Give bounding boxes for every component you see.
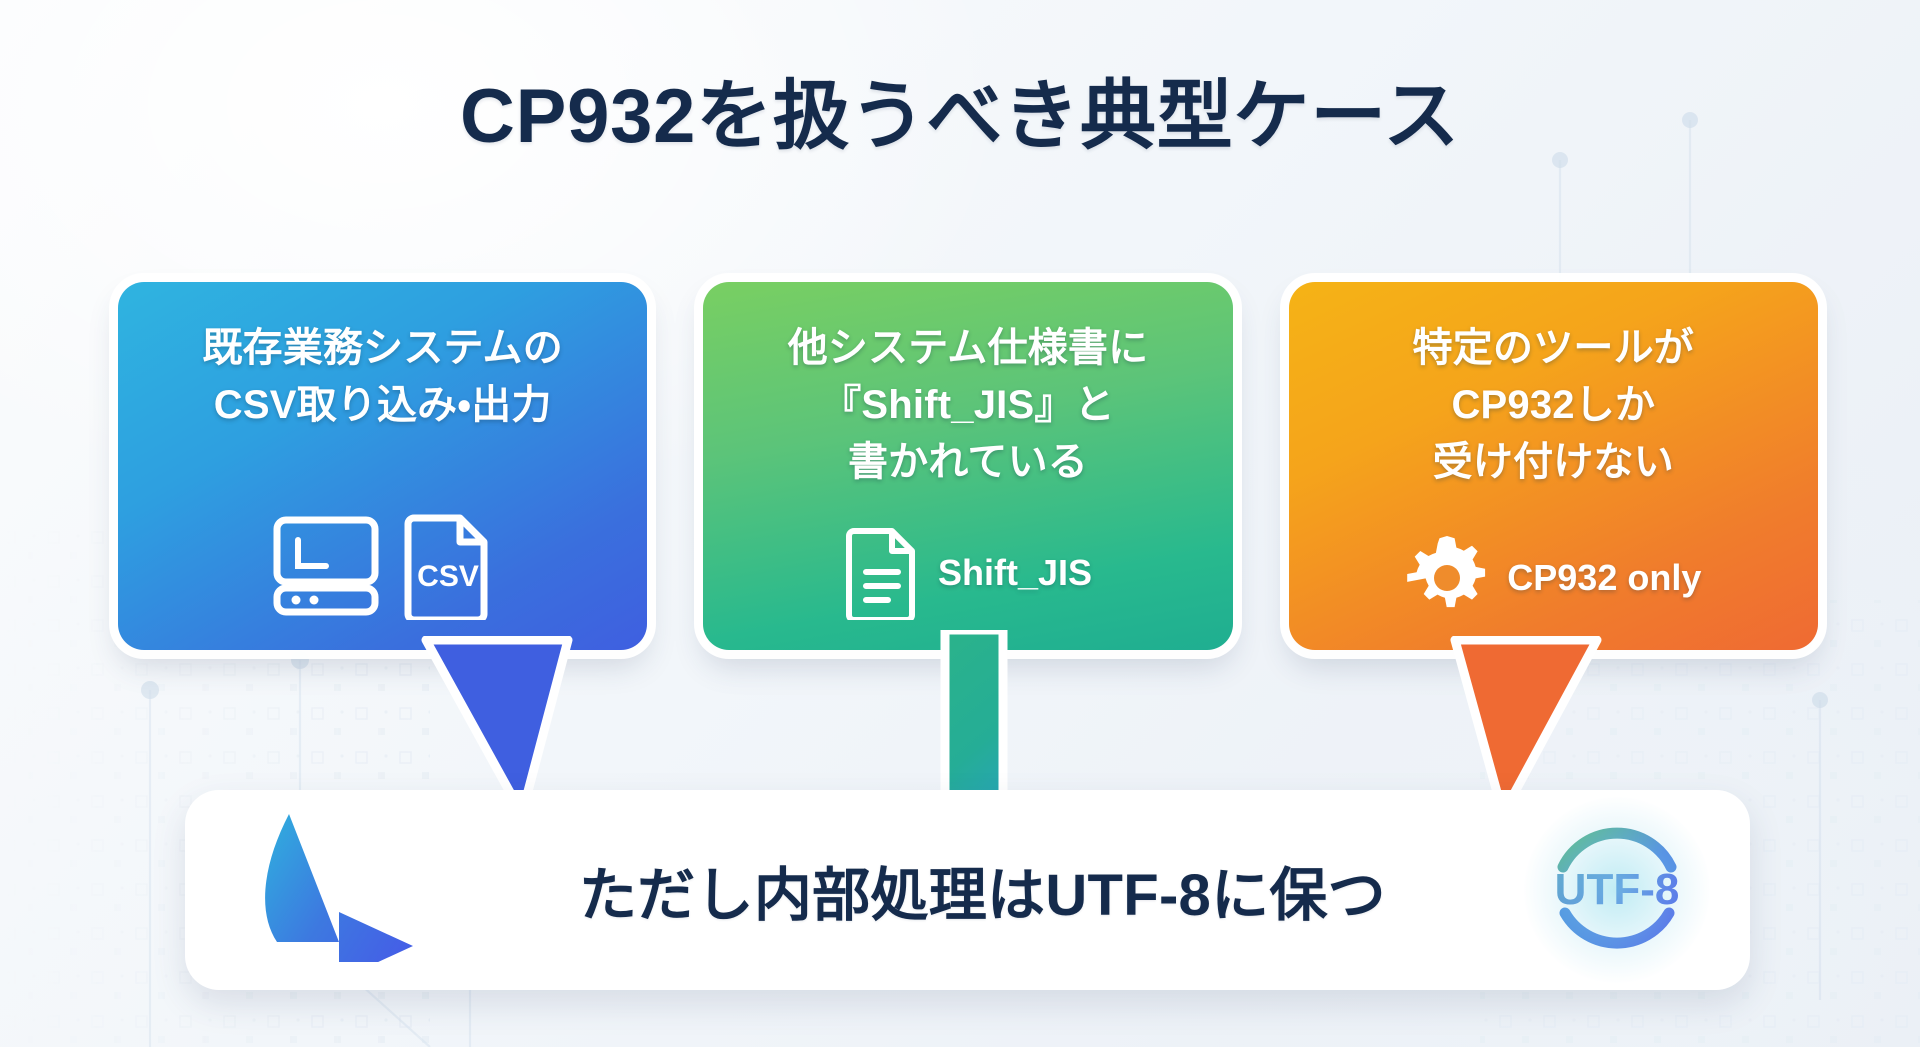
case-card-spec-says-shift-jis[interactable]: 他システム仕様書に 『Shift_JIS』と 書かれている Shift_JIS bbox=[703, 282, 1232, 650]
desktop-computer-icon bbox=[270, 514, 382, 618]
gear-icon bbox=[1405, 536, 1489, 620]
page-title: CP932を扱うべき典型ケース bbox=[0, 74, 1920, 159]
card-slot-spec-says-shift-jis: 他システム仕様書に 『Shift_JIS』と 書かれている Shift_JIS bbox=[703, 282, 1232, 650]
icon-label: CP932 only bbox=[1507, 557, 1701, 599]
card-icon-row: CSV bbox=[270, 486, 496, 620]
infographic-stage: CP932を扱うべき典型ケース 既存業務システムの CSV取り込み・出力 bbox=[0, 0, 1920, 1047]
case-card-existing-system-csv[interactable]: 既存業務システムの CSV取り込み・出力 bbox=[118, 282, 647, 650]
card-line: 他システム仕様書に bbox=[788, 320, 1149, 377]
utf8-badge: UTF-8 bbox=[1538, 809, 1696, 972]
card-line: CSV取り込み・出力 bbox=[202, 377, 563, 434]
card-line: 既存業務システムの bbox=[202, 320, 563, 377]
case-cards-row: 既存業務システムの CSV取り込み・出力 bbox=[118, 282, 1818, 650]
document-icon bbox=[844, 526, 920, 620]
card-text-block: 他システム仕様書に 『Shift_JIS』と 書かれている bbox=[788, 320, 1149, 490]
utf8-badge-label: UTF-8 bbox=[1555, 865, 1680, 914]
card-line: 受け付けない bbox=[1413, 434, 1694, 491]
card-text-block: 既存業務システムの CSV取り込み・出力 bbox=[202, 320, 563, 434]
card-icon-row: CP932 only bbox=[1405, 510, 1701, 620]
card-slot-existing-system-csv: 既存業務システムの CSV取り込み・出力 bbox=[118, 282, 647, 650]
card-line: 書かれている bbox=[788, 434, 1149, 491]
case-card-tool-accepts-cp932-only[interactable]: 特定のツールが CP932しか 受け付けない CP932 only bbox=[1289, 282, 1818, 650]
curved-arrow-icon bbox=[229, 812, 419, 962]
card-line: CP932しか bbox=[1413, 377, 1694, 434]
icon-label: Shift_JIS bbox=[938, 552, 1092, 594]
card-line: 特定のツールが bbox=[1413, 320, 1694, 377]
card-text-block: 特定のツールが CP932しか 受け付けない bbox=[1413, 320, 1694, 490]
conclusion-panel: ただし内部処理はUTF-8に保つ bbox=[185, 790, 1750, 990]
card-icon-row: Shift_JIS bbox=[844, 500, 1092, 620]
utf8-ring-icon: UTF-8 bbox=[1538, 809, 1696, 967]
svg-text:CSV: CSV bbox=[417, 560, 479, 593]
conclusion-text: ただし内部処理はUTF-8に保つ bbox=[445, 848, 1520, 932]
page-title-wrapper: CP932を扱うべき典型ケース bbox=[0, 74, 1920, 159]
card-line: 『Shift_JIS』と bbox=[788, 377, 1149, 434]
card-slot-tool-accepts-cp932-only: 特定のツールが CP932しか 受け付けない CP932 only bbox=[1289, 282, 1818, 650]
csv-file-icon: CSV bbox=[400, 512, 496, 620]
